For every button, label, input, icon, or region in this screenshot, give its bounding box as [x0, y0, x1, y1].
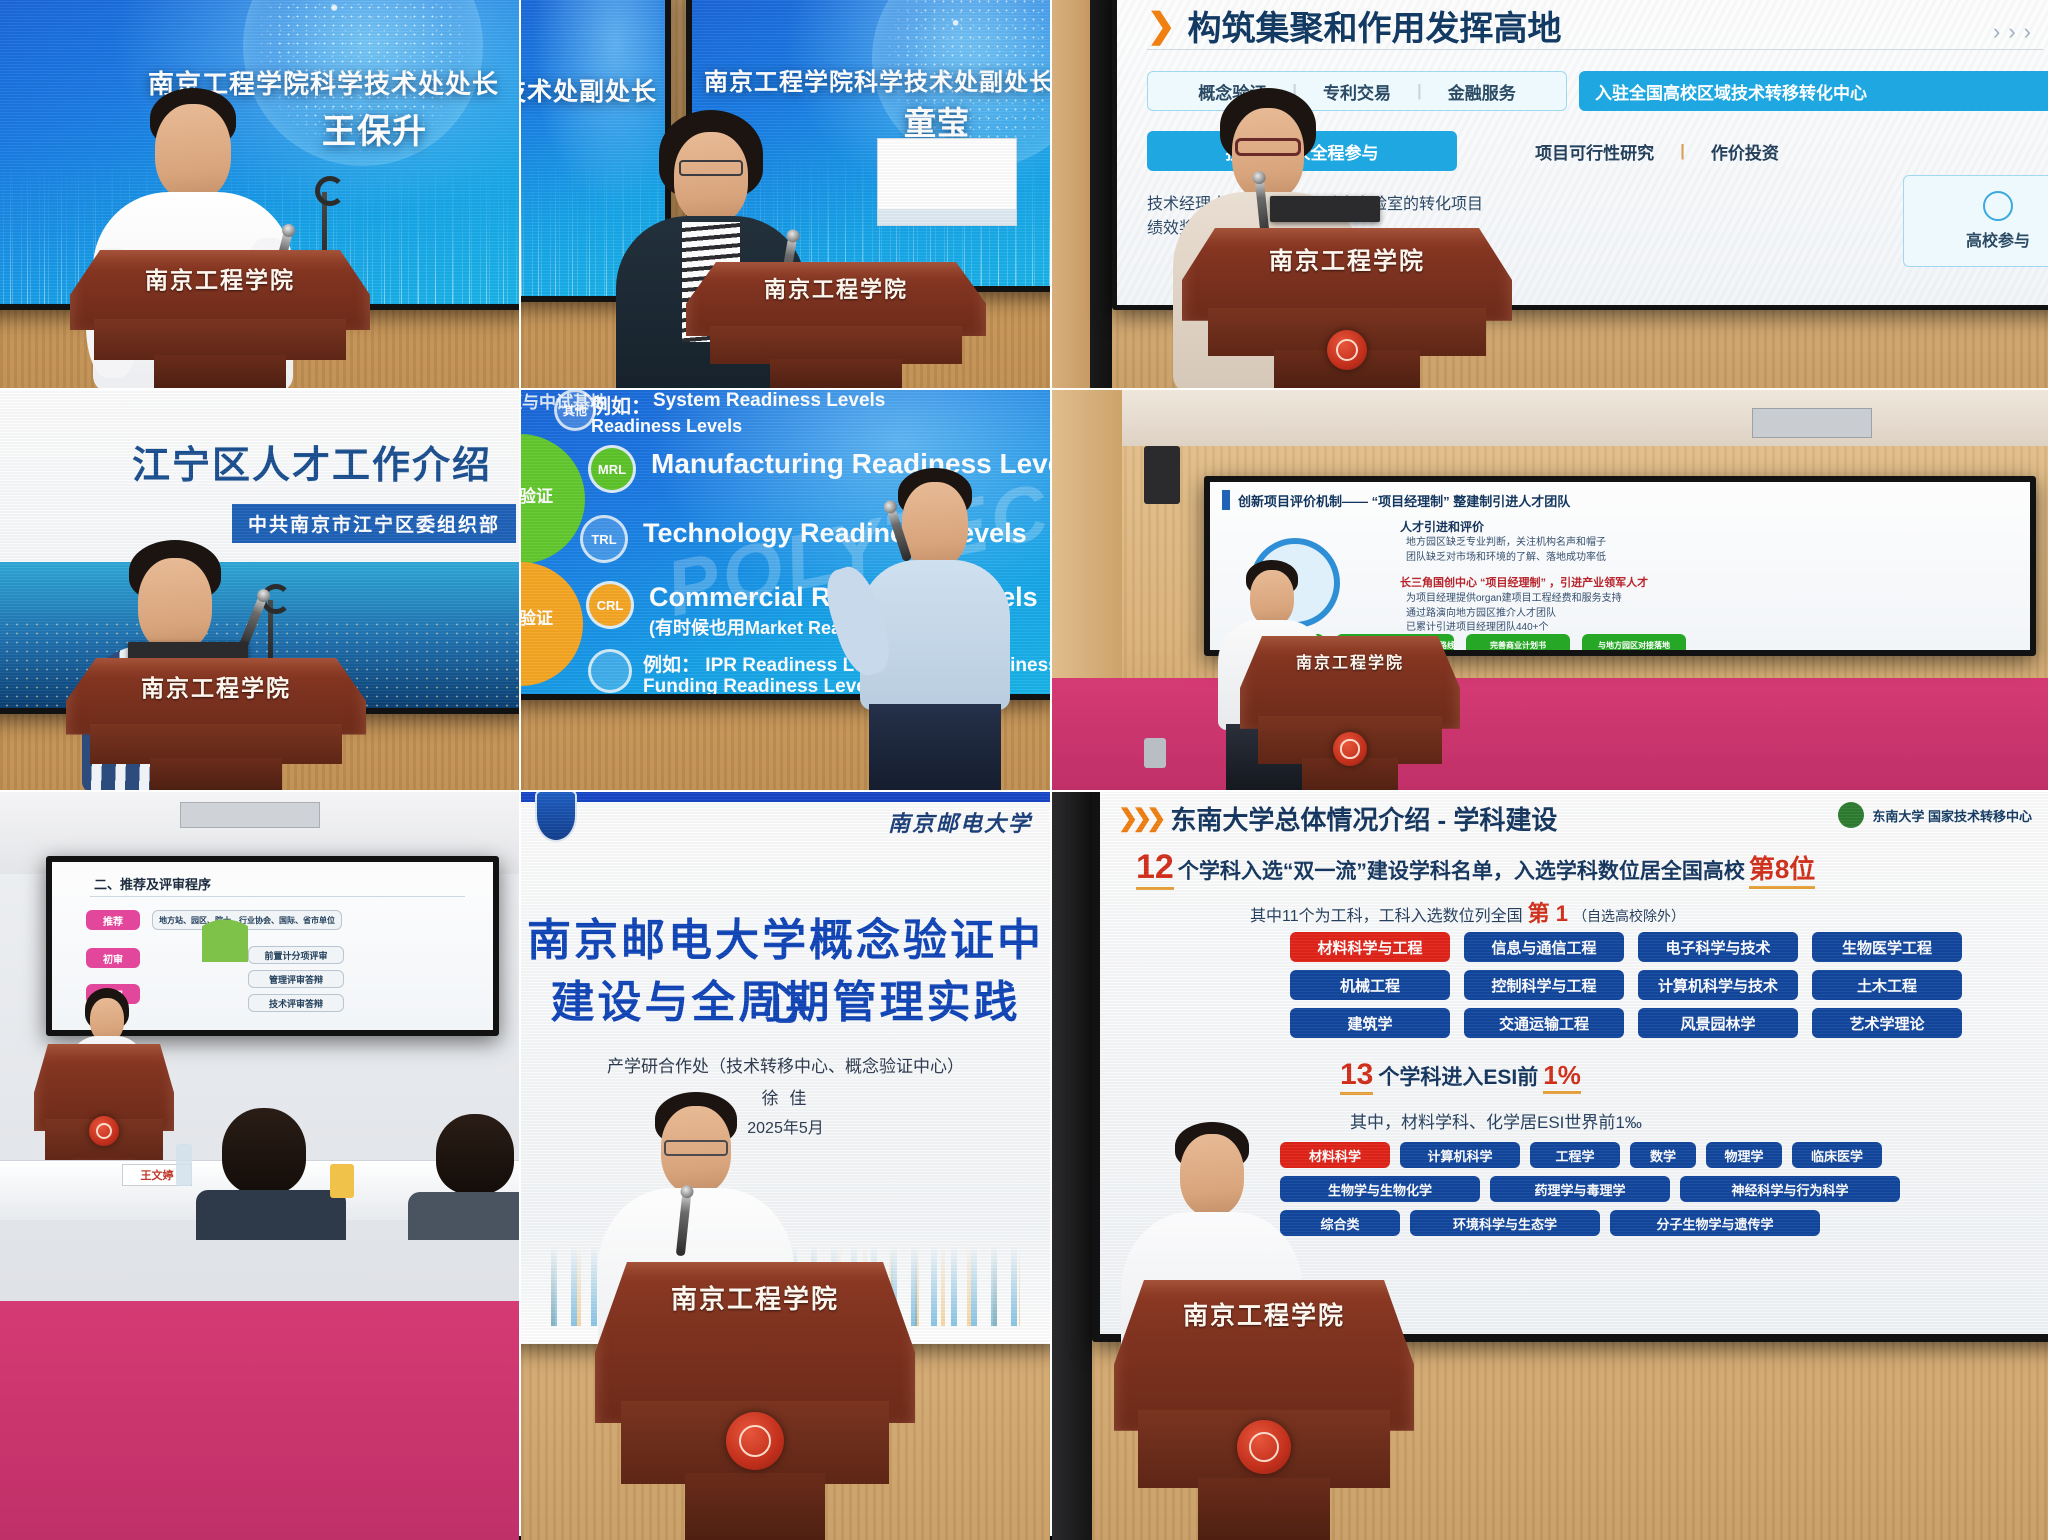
lectern-logo-text: 南京工程学院 [595, 1279, 915, 1316]
slide-heading-row: ❯❯❯ 东南大学总体情况介绍 - 学科建设 [1118, 800, 1557, 837]
subline-post: （自选高校除外） [1573, 906, 1685, 926]
slide-title-line-2: 建设与全周期管理实践 [521, 966, 1050, 1030]
lectern-base [685, 1473, 826, 1540]
esi-2-3[interactable]: 神经科学与行为科学 [1680, 1176, 1900, 1202]
slide-heading-row: 创新项目评价机制—— “项目经理制” 整建制引进人才团队 [1222, 490, 1570, 510]
head [902, 482, 968, 568]
discipline-1-2[interactable]: 信息与通信工程 [1464, 932, 1624, 962]
wall-speaker [1144, 446, 1180, 504]
org-mark-text: 东南大学 国家技术转移中心 [1872, 806, 2032, 825]
slide-heading: 二、推荐及评审程序 [94, 874, 211, 893]
esi-percent: 1% [1543, 1060, 1581, 1094]
example-top-line-1: System Readiness Levels [653, 390, 885, 412]
example-bottom-label-text: 例如： [643, 655, 700, 676]
discipline-row-3: 建筑学 交通运输工程 风景园林学 艺术学理论 [1290, 1008, 1962, 1038]
lectern-logo-text: 南京工程学院 [70, 261, 370, 295]
org-mark-row: 东南大学 国家技术转移中心 [1838, 802, 2032, 828]
database-icon [1983, 191, 2013, 221]
laptop [1270, 196, 1380, 222]
node-other-bottom [591, 652, 629, 690]
org-logo-icon [1838, 802, 1864, 828]
umbrella-graphic-icon [202, 898, 248, 962]
discipline-row-2: 机械工程 控制科学与工程 计算机科学与技术 土木工程 [1290, 970, 1962, 1000]
lectern: 南京工程学院 [686, 262, 986, 388]
esi-number: 13 [1340, 1058, 1373, 1095]
lectern-logo-text: 南京工程学院 [1114, 1296, 1414, 1332]
lectern-seal [89, 1116, 119, 1146]
slide-line-1: 南京工程学院科学技术处副处长 [704, 62, 1050, 97]
head [155, 104, 231, 200]
slide-inset-window [877, 138, 1017, 226]
example-top-line-2: Readiness Levels [591, 416, 742, 437]
footer-tag-3[interactable]: 与地方园区对接落地 [1582, 634, 1686, 656]
flow-left-1[interactable]: 推荐 [86, 910, 140, 930]
lectern-logo-text: 南京工程学院 [1182, 241, 1512, 276]
floor-object [1144, 738, 1166, 768]
ceiling [1052, 390, 2048, 446]
discipline-1-3[interactable]: 电子科学与技术 [1638, 932, 1798, 962]
lectern: 南京工程学院 [66, 658, 366, 790]
discipline-3-1[interactable]: 建筑学 [1290, 1008, 1450, 1038]
heading-underline [1147, 49, 2043, 50]
section-1-title: 人才引进和评价 [1400, 518, 1484, 535]
discipline-3-4[interactable]: 艺术学理论 [1812, 1008, 1962, 1038]
subline-rank: 第 1 [1528, 896, 1568, 928]
panel-bottom-center[interactable]: 南京邮电大学 南京邮电大学概念验证中心 建设与全周期管理实践 产学研合作处（技术… [521, 792, 1050, 1540]
esi-3-2[interactable]: 环境科学与生态学 [1410, 1210, 1600, 1236]
esi-1-4[interactable]: 数学 [1630, 1142, 1696, 1168]
lectern-base [770, 359, 902, 388]
slide-line-2: 王保升 [322, 104, 427, 153]
lectern-base [150, 758, 282, 790]
panel-top-right[interactable]: ❯ 构筑集聚和作用发挥高地 ››› 概念验证 | 专利交易 | 金融服务 入驻全… [1052, 0, 2048, 388]
tag-kexingxing: 项目可行性研究 [1535, 139, 1654, 164]
lectern-seal [1333, 732, 1367, 766]
flow-left-2[interactable]: 初审 [86, 948, 140, 968]
footer-tag-2[interactable]: 完善商业计划书 [1466, 634, 1570, 656]
photo-collage: 南京工程学院科学技术处处长 王保升 南京工程学院 南京工程学院科学技术处副处长 [0, 0, 2048, 1536]
audience-head-1 [222, 1108, 306, 1194]
speaker-figure [840, 468, 1030, 788]
lectern-seal [1237, 1420, 1291, 1474]
node-other-top: 其他 [557, 392, 593, 428]
carpet [0, 1301, 519, 1540]
node-crl: CRL [589, 584, 631, 626]
esi-row-1: 材料科学 计算机科学 工程学 数学 物理学 临床医学 [1280, 1142, 1882, 1168]
ceiling-vent [180, 802, 320, 828]
audience-shoulders-1 [196, 1190, 346, 1240]
head [1250, 570, 1294, 626]
audience-shoulders-2 [408, 1192, 519, 1240]
discipline-2-4[interactable]: 土木工程 [1812, 970, 1962, 1000]
lectern: 南京工程学院 [595, 1262, 915, 1540]
lectern: 南京工程学院 [70, 250, 370, 388]
trousers [869, 704, 1001, 790]
university-crest-icon [535, 792, 577, 842]
side-card[interactable]: 高校参与 [1903, 175, 2048, 267]
flow-right-3[interactable]: 技术评审答辩 [248, 994, 344, 1012]
esi-1-5[interactable]: 物理学 [1706, 1142, 1782, 1168]
esi-subline: 其中，材料学科、化学居ESI世界前1‰ [1350, 1108, 1642, 1133]
discipline-2-2[interactable]: 控制科学与工程 [1464, 970, 1624, 1000]
glasses [664, 1140, 728, 1156]
bullet-1-2: 团队缺乏对市场和环境的了解、落地成功率低 [1406, 551, 1606, 566]
esi-row-3: 综合类 环境科学与生态学 分子生物学与遗传学 [1280, 1210, 1820, 1236]
tag-jinrong: 金融服务 [1448, 79, 1516, 104]
node-trl: TRL [583, 518, 625, 560]
node-mrl: MRL [591, 448, 633, 490]
bullet-1-1: 地方园区缺乏专业判断，关注机构名声和帽子 [1406, 536, 1606, 551]
glasses [679, 160, 743, 176]
lectern-seal [1327, 330, 1367, 370]
esi-2-2[interactable]: 药理学与毒理学 [1490, 1176, 1670, 1202]
slide-heading-row: ❯ 构筑集聚和作用发挥高地 [1147, 1, 1562, 50]
panel-top-center[interactable]: 南京工程学院科学技术处副处长 南京工程学院科学技术处副处长 童莹 南京工程学院 [521, 0, 1050, 388]
subline: 其中11个为工科，工科入选数位列全国 第 1 （自选高校除外） [1250, 896, 1685, 928]
panel-middle-left[interactable]: 江宁区人才工作介绍 中共南京市江宁区委组织部 南京工程学院 [0, 390, 519, 790]
discipline-2-3[interactable]: 计算机科学与技术 [1638, 970, 1798, 1000]
wall-column-wood [1052, 0, 1090, 388]
left-circle-green-label: 验证 [521, 482, 553, 507]
esi-line: 13 个学科进入ESI前 1% [1340, 1058, 1581, 1095]
section-1-bullets: 地方园区缺乏专业判断，关注机构名声和帽子 团队缺乏对市场和环境的了解、落地成功率… [1406, 536, 1606, 565]
highlight-line: 12 个学科入选“双一流”建设学科名单，入选学科数位居全国高校 第8位 [1136, 848, 1815, 890]
head [138, 558, 212, 652]
highlight-number: 12 [1136, 848, 1174, 890]
slide-line-1-clipped: 南京工程学院科学技术处副处长 [521, 72, 657, 108]
chevrons-right-icon: ❯❯❯ [1118, 804, 1160, 833]
discipline-3-2[interactable]: 交通运输工程 [1464, 1008, 1624, 1038]
audience-head-2 [436, 1114, 514, 1194]
side-card-label: 高校参与 [1966, 227, 2030, 251]
flow-right-2[interactable]: 管理评审答辩 [248, 970, 344, 988]
section-2-title: 长三角国创中心 “项目经理制” ，引进产业领军人才 [1400, 574, 1648, 590]
left-circle-orange-label: 验证 [521, 604, 553, 629]
discipline-row-1: 材料科学与工程 信息与通信工程 电子科学与技术 生物医学工程 [1290, 932, 1962, 962]
water-cup [330, 1164, 354, 1198]
esi-1-3[interactable]: 工程学 [1530, 1142, 1620, 1168]
glasses [1235, 138, 1301, 156]
slide-accent-stripe [909, 796, 1042, 801]
esi-1-2[interactable]: 计算机科学 [1400, 1142, 1520, 1168]
lectern: 南京工程学院 [1182, 228, 1512, 388]
tag-zuojia: 作价投资 [1711, 139, 1779, 164]
chevron-right-icon: ❯ [1147, 9, 1176, 43]
lectern-logo-text: 南京工程学院 [1240, 649, 1460, 673]
slide-subtitle: 产学研合作处（技术转移中心、概念验证中心） [521, 1052, 1050, 1077]
esi-text: 个学科进入ESI前 [1378, 1061, 1538, 1091]
discipline-2-1[interactable]: 机械工程 [1290, 970, 1450, 1000]
lectern-base [1198, 1478, 1330, 1540]
slide-subtitle-box: 中共南京市江宁区委组织部 [232, 504, 516, 543]
esi-3-3[interactable]: 分子生物学与遗传学 [1610, 1210, 1820, 1236]
slide-title: 江宁区人才工作介绍 [132, 434, 492, 489]
highlight-text: 个学科入选“双一流”建设学科名单，入选学科数位居全国高校 [1178, 855, 1745, 885]
lectern-logo-text: 南京工程学院 [66, 669, 366, 703]
panel-bottom-right[interactable]: ❯❯❯ 东南大学总体情况介绍 - 学科建设 东南大学 国家技术转移中心 12 个… [1052, 792, 2048, 1540]
flow-right-1[interactable]: 前置计分项评审 [248, 946, 344, 964]
panel-middle-center[interactable]: POLYTECH 证与中试基地 例如： System Readiness Lev… [521, 390, 1050, 790]
lectern: 南京工程学院 [1240, 636, 1460, 790]
discipline-1-1[interactable]: 材料科学与工程 [1290, 932, 1450, 962]
lectern: 南京工程学院 [1114, 1280, 1414, 1540]
lectern-seal [726, 1412, 784, 1470]
subline-pre: 其中11个为工科，工科入选数位列全国 [1250, 902, 1523, 926]
panel-middle-right[interactable]: 创新项目评价机制—— “项目经理制” 整建制引进人才团队 人才引进和评价 地方园… [1052, 390, 2048, 790]
university-mark: 南京邮电大学 [888, 806, 1032, 838]
slide-heading: 东南大学总体情况介绍 - 学科建设 [1170, 800, 1557, 837]
slide-heading: 创新项目评价机制—— “项目经理制” 整建制引进人才团队 [1238, 491, 1570, 510]
discipline-3-3[interactable]: 风景园林学 [1638, 1008, 1798, 1038]
tag-row-1-highlight[interactable]: 入驻全国高校区域技术转移转化中心 [1579, 71, 2048, 111]
heading-bar-icon [1222, 490, 1230, 510]
bullet-2-2: 通过路演向地方园区推介人才团队 [1406, 607, 1622, 622]
lectern-base [154, 355, 286, 388]
ceiling-vent [1752, 408, 1872, 438]
water-bottle [176, 1144, 192, 1186]
esi-1-6[interactable]: 临床医学 [1792, 1142, 1882, 1168]
head [674, 132, 748, 224]
esi-row-2: 生物学与生物化学 药理学与毒理学 神经科学与行为科学 [1280, 1176, 1900, 1202]
screen-bezel-left [1052, 792, 1092, 1540]
lectern-logo-text: 南京工程学院 [686, 272, 986, 304]
discipline-1-4[interactable]: 生物医学工程 [1812, 932, 1962, 962]
bullet-2-1: 为项目经理提供organ建项目工程经费和服务支持 [1406, 592, 1622, 607]
slide-heading: 构筑集聚和作用发挥高地 [1188, 1, 1562, 50]
highlight-rank: 第8位 [1749, 849, 1815, 889]
tag-group-row-2[interactable]: 项目可行性研究 | 作价投资 [1477, 131, 1837, 171]
section-2-bullets: 为项目经理提供organ建项目工程经费和服务支持 通过路演向地方园区推介人才团队… [1406, 592, 1622, 636]
head [1180, 1134, 1244, 1216]
panel-top-left[interactable]: 南京工程学院科学技术处处长 王保升 南京工程学院 [0, 0, 519, 388]
example-top-label: 例如： [591, 390, 651, 419]
panel-bottom-left[interactable]: 二、推荐及评审程序 推荐 初审 初评 地方站、园区、院士、行业协会、国际、省市单… [0, 792, 519, 1540]
chevrons-decor-icon: ››› [1993, 19, 2039, 45]
